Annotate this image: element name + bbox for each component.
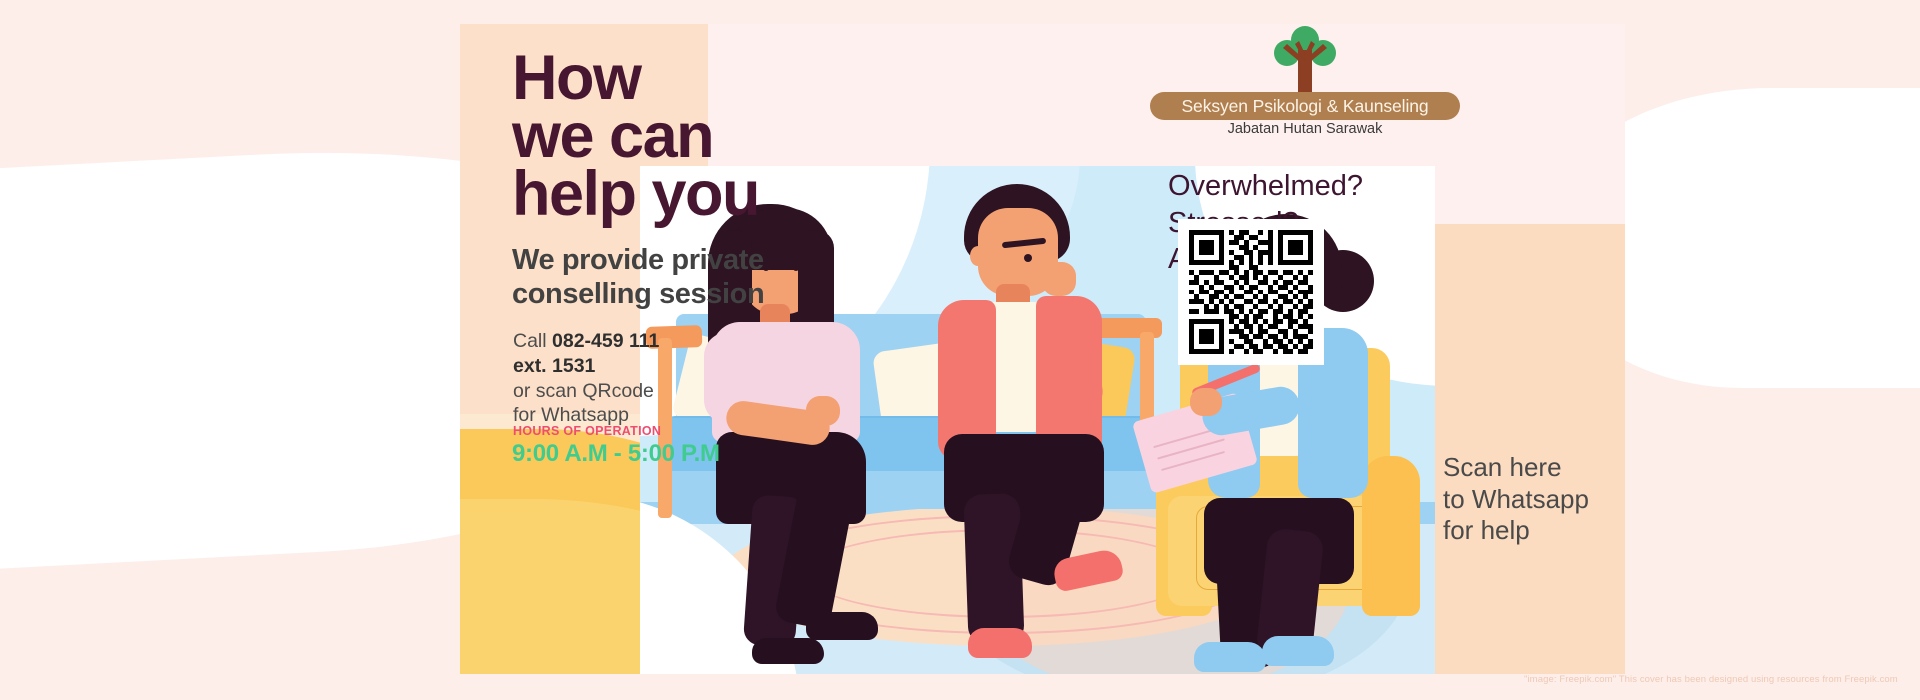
man-eye [1024, 254, 1032, 262]
man-shoe-back [968, 628, 1032, 658]
woman-shoe-back [752, 638, 824, 664]
counsellor-hand [1190, 388, 1222, 416]
right-peach-panel-light [1435, 24, 1625, 224]
counsellor-shoe-front [1194, 642, 1266, 672]
scan-cta-text: Scan here to Whatsapp for help [1443, 452, 1589, 547]
logo-department: Jabatan Hutan Sarawak [1150, 121, 1460, 137]
man-hand-on-chin [1042, 262, 1076, 296]
tree-icon [1265, 26, 1345, 92]
woman-hand [806, 396, 840, 426]
qr-code[interactable] [1189, 230, 1313, 354]
page-title: How we can help you [512, 50, 759, 224]
contact-block: Call 082-459 111 ext. 1531 or scan QRcod… [513, 329, 659, 428]
man-ear [970, 246, 986, 266]
woman-shoe-front [806, 612, 878, 640]
hours-value: 9:00 A.M - 5:00 P.M [512, 440, 720, 468]
person-client-man [926, 184, 1166, 624]
logo-org-name: Seksyen Psikologi & Kaunseling [1181, 96, 1428, 117]
organisation-logo: Seksyen Psikologi & Kaunseling Jabatan H… [1150, 24, 1460, 152]
counsellor-shoe-back [1262, 636, 1334, 666]
image-credit: "image: Freepik.com" This cover has been… [1524, 674, 1898, 685]
logo-name-pill: Seksyen Psikologi & Kaunseling [1150, 92, 1460, 120]
phone-number: 082-459 111 [552, 330, 659, 352]
call-prefix: Call [513, 330, 552, 352]
phone-extension: ext. 1531 [513, 355, 595, 377]
hours-label: HOURS OF OPERATION [513, 424, 661, 438]
subheading: We provide private conselling session [512, 243, 764, 311]
poster-canvas: Seksyen Psikologi & Kaunseling Jabatan H… [0, 0, 1920, 700]
qr-code-card[interactable] [1178, 219, 1324, 365]
qr-instruction-line-1: or scan QRcode [513, 379, 659, 404]
call-line: Call 082-459 111 [513, 329, 659, 354]
